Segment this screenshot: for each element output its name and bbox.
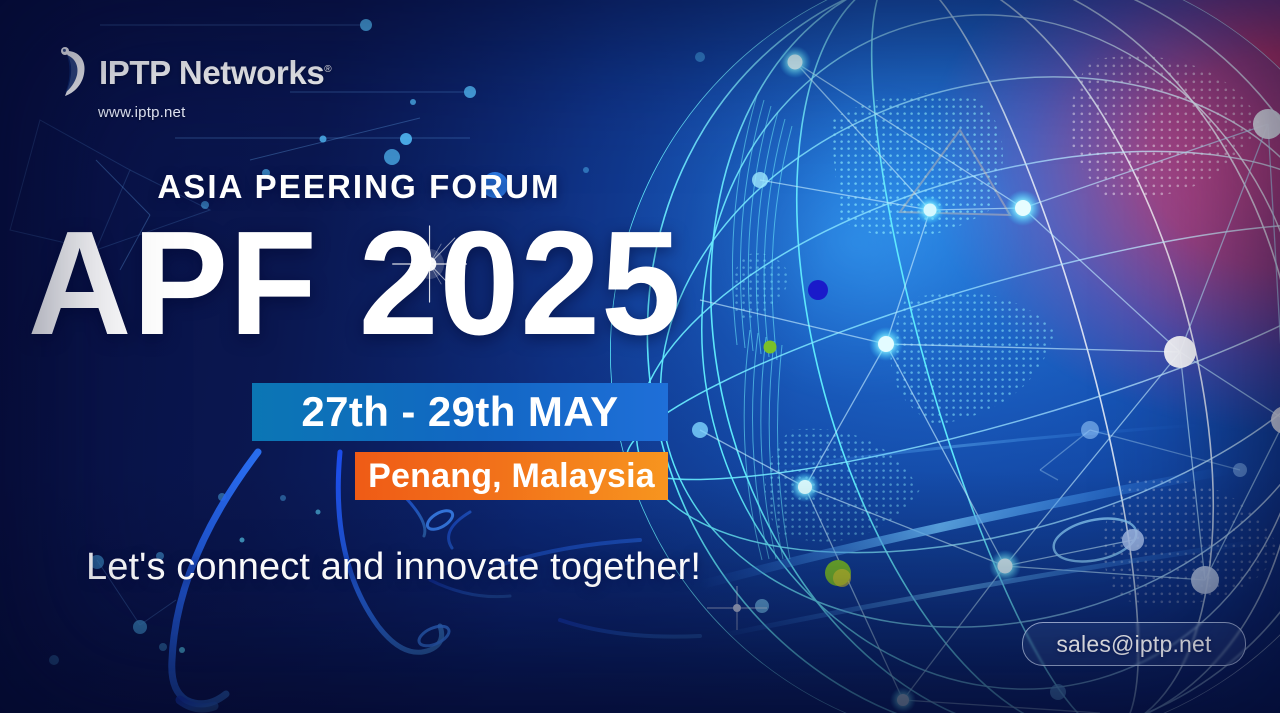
- apf-2025-promo-banner: IPTP Networks® www.iptp.net ASIA PEERING…: [0, 0, 1280, 713]
- brand-website: www.iptp.net: [98, 104, 331, 121]
- headline-block: ASIA PEERING FORUM APF 2025: [0, 168, 700, 352]
- feather-swirl-mark: [56, 46, 90, 98]
- sparkle-icon: [385, 218, 474, 310]
- brand-logo: IPTP Networks® www.iptp.net: [56, 46, 331, 121]
- brand-name: IPTP Networks®: [99, 56, 331, 89]
- event-location-bar: Penang, Malaysia: [355, 452, 668, 500]
- event-location-label: Penang, Malaysia: [368, 457, 655, 496]
- contact-email-label: sales@iptp.net: [1056, 631, 1211, 658]
- registered-mark: ®: [324, 64, 331, 75]
- event-title: APF 2025: [11, 216, 690, 352]
- tagline: Let's connect and innovate together!: [86, 546, 686, 589]
- event-dates-bar: 27th - 29th MAY: [252, 383, 668, 441]
- event-dates-label: 27th - 29th MAY: [301, 388, 618, 436]
- contact-email-pill[interactable]: sales@iptp.net: [1022, 622, 1246, 666]
